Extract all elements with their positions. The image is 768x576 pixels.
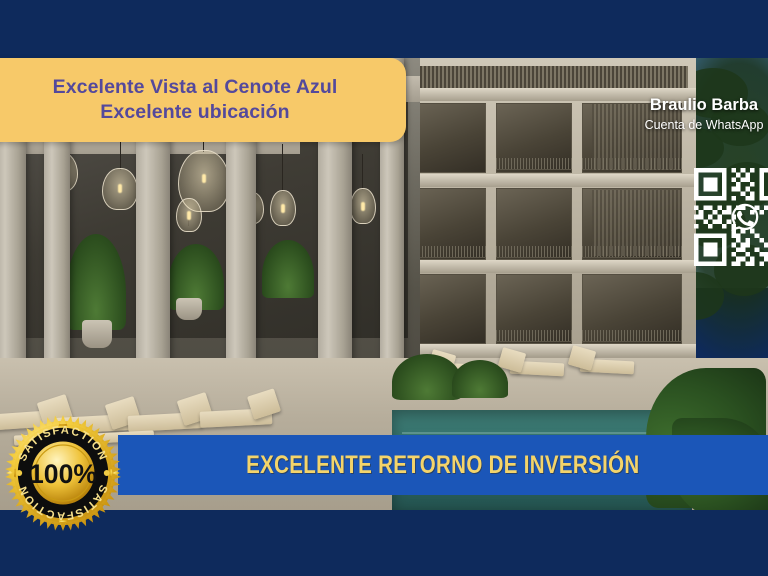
headline-line-1: Excelente Vista al Cenote Azul [53, 75, 338, 100]
satisfaction-seal: SATISFACTION SATISFACTION 100% [4, 414, 122, 532]
contact-name: Braulio Barba [614, 96, 768, 115]
qr-code[interactable] [694, 168, 768, 266]
headline-panel: Excelente Vista al Cenote Azul Excelente… [0, 58, 406, 142]
whatsapp-icon [728, 200, 762, 234]
advertisement-root: Excelente Vista al Cenote Azul Excelente… [0, 0, 768, 576]
contact-block: Braulio Barba Cuenta de WhatsApp [614, 96, 768, 132]
cta-banner-text: EXCELENTE RETORNO DE INVERSIÓN [246, 451, 639, 480]
headline-line-2: Excelente ubicación [100, 100, 289, 125]
top-letterbox-bar [0, 0, 768, 58]
cta-banner: EXCELENTE RETORNO DE INVERSIÓN [118, 435, 768, 495]
seal-value: 100% [29, 459, 97, 489]
contact-subtitle: Cuenta de WhatsApp [614, 118, 768, 132]
